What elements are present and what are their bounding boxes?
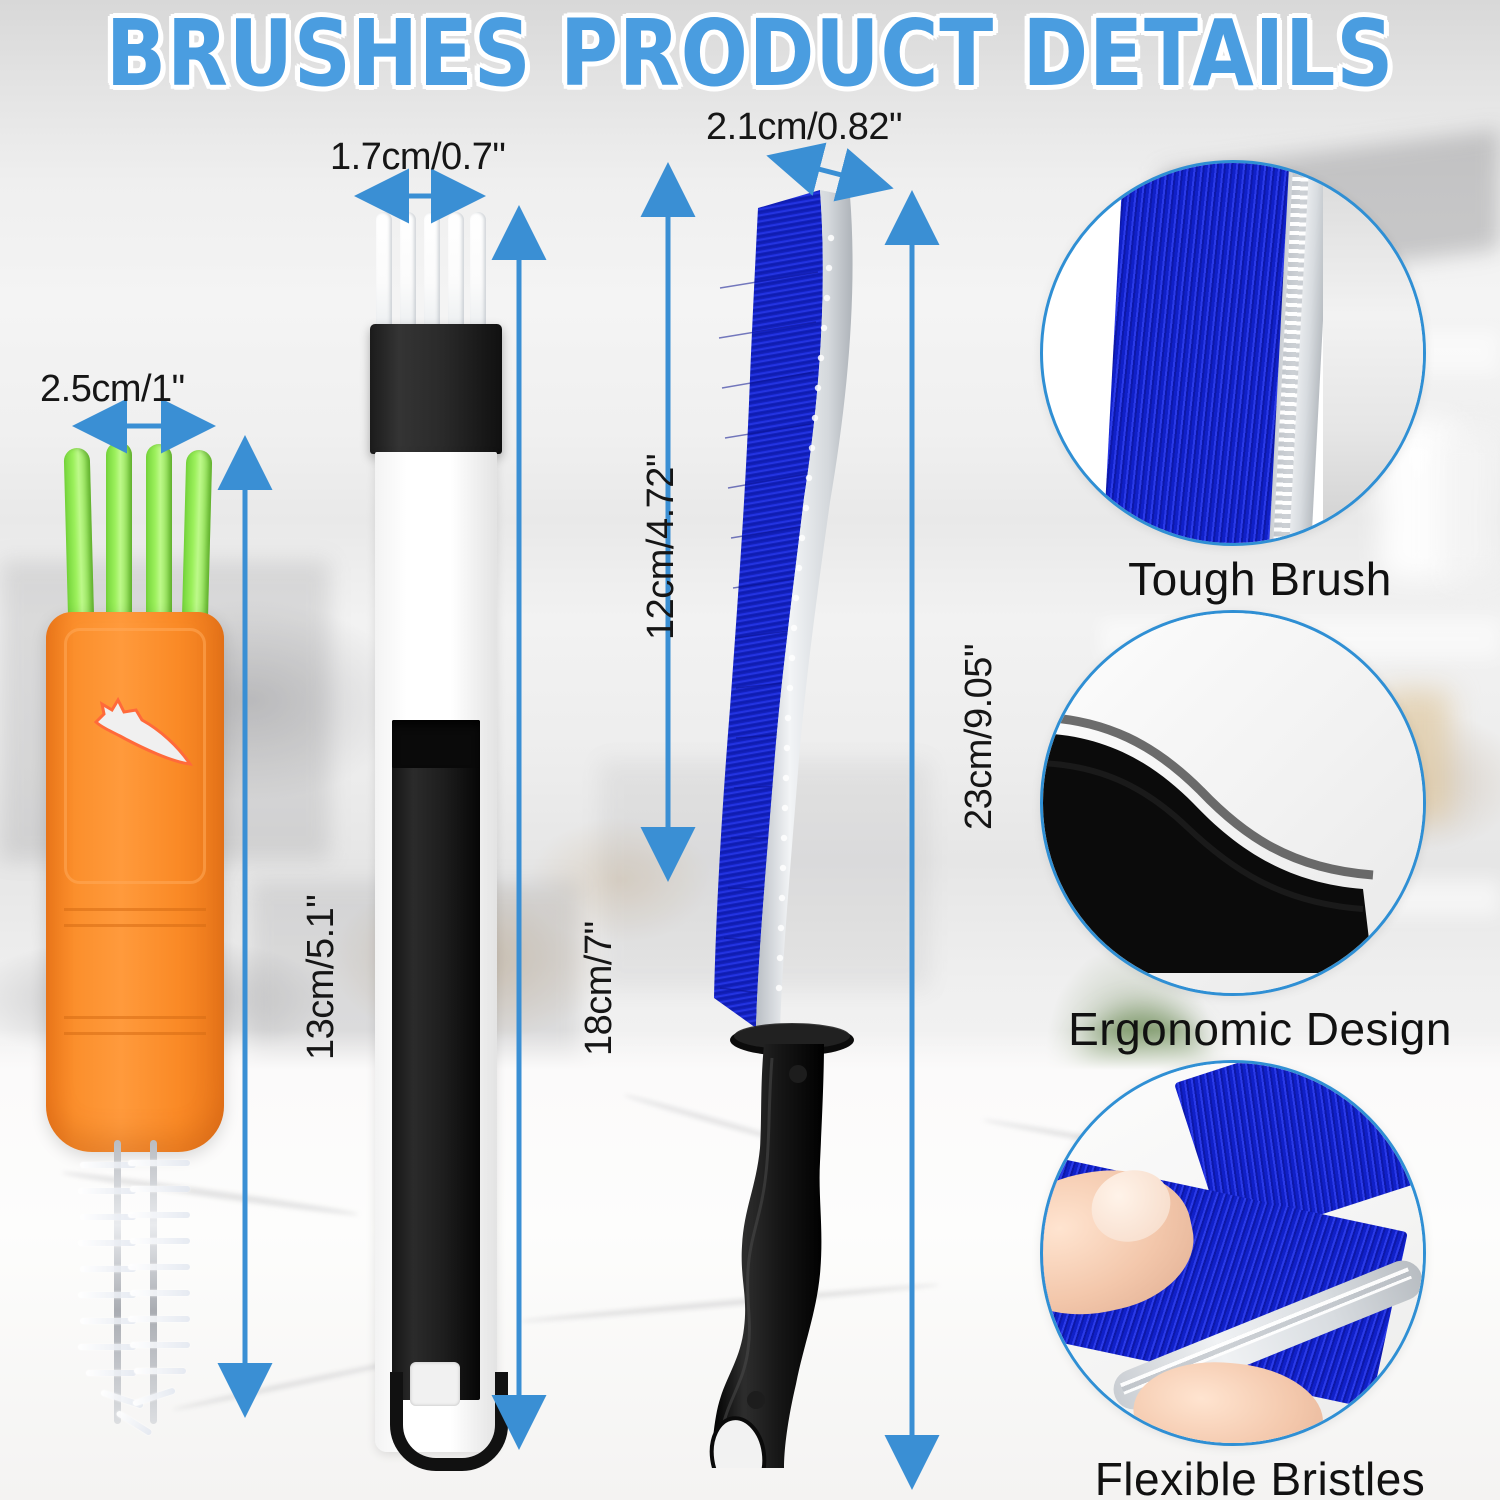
detail-bristle [424,212,440,330]
callout-tough-brush: Tough Brush [1030,160,1490,590]
callout-image-tough-brush [1040,160,1426,546]
carrot-bristle [182,450,213,631]
callout-image-ergonomic-design [1040,610,1426,996]
carrot-groove [64,1016,206,1019]
carrot-groove [64,1032,206,1035]
dim-label-gap-width: 2.1cm/0.82" [706,106,902,149]
twisted-wire-core [114,1140,121,1424]
detail-bristle [376,212,392,330]
detail-bristle [448,212,464,330]
detail-brush-bristles [376,212,486,330]
handle-closeup [1043,613,1423,993]
dim-label-detail-height: 18cm/7" [578,921,621,1056]
detail-brush-hang-loop [390,1372,508,1471]
blue-bristle-closeup [1101,160,1295,546]
carrot-handle [46,612,224,1152]
detail-brush-scraper [392,720,480,1400]
callout-label-tough-brush: Tough Brush [1030,552,1490,606]
detail-brush-ferrule [370,324,502,454]
carrot-bristle [146,444,172,632]
detail-brush-scraper-opening [392,720,480,768]
carrot-shape-cutout [86,690,194,786]
detail-bristle [400,212,416,330]
dim-label-carrot-height: 13cm/5.1" [300,895,343,1060]
carrot-groove [64,908,206,911]
callout-label-ergonomic-design: Ergonomic Design [1030,1002,1490,1056]
callout-background-blur [1323,163,1426,543]
wire-bottle-brush [84,1140,194,1450]
callout-ergonomic-design: Ergonomic Design [1030,610,1490,1040]
product-detail-crevice-brush [352,212,532,1447]
dim-label-carrot-width: 2.5cm/1" [40,368,185,411]
page-title: BRUSHES PRODUCT DETAILS [105,6,1395,103]
detail-bristle [470,212,486,330]
product-carrot-cleaning-brush [38,440,258,1470]
dim-label-detail-width: 1.7cm/0.7" [330,136,505,179]
blue-gap-brush-art [700,168,950,1468]
twisted-wire-core [150,1140,157,1424]
callout-flexible-bristles: Flexible Bristles [1030,1060,1490,1490]
product-blue-gap-brush [700,168,950,1468]
carrot-groove [64,924,206,927]
carrot-bristle [106,442,132,632]
gap-brush-handle-dimple [747,1391,765,1409]
gap-brush-handle-dimple [789,1065,807,1083]
product-detail-infographic: BRUSHES PRODUCT DETAILS [0,0,1500,1500]
carrot-bristle [64,448,95,631]
dim-label-gap-total-height: 23cm/9.05" [958,644,1001,830]
dim-label-gap-bristle-height: 12cm/4.72" [640,454,683,640]
callout-image-flexible-bristles [1040,1060,1426,1446]
callout-label-flexible-bristles: Flexible Bristles [1030,1452,1490,1500]
